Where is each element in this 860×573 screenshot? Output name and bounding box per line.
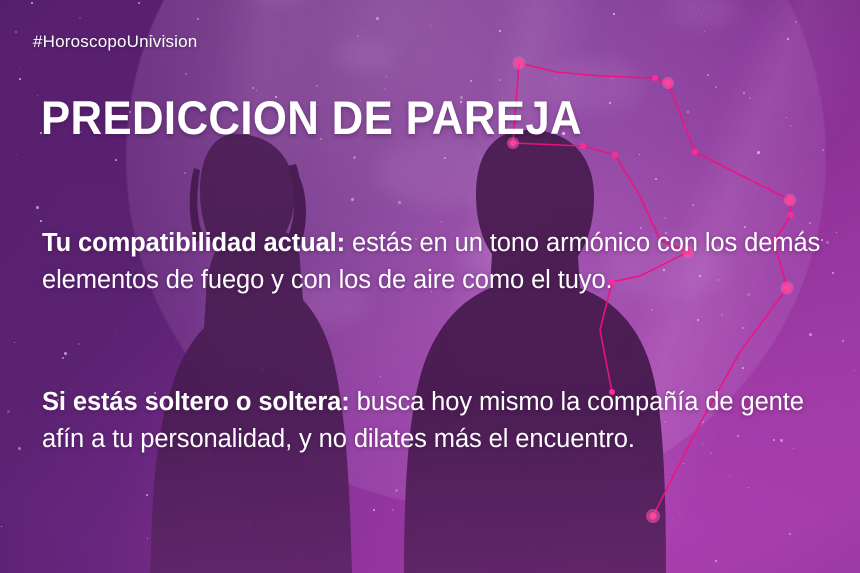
card-content: #HoroscopoUnivision PREDICCION DE PAREJA… [0,0,860,573]
paragraph-compatibility: Tu compatibilidad actual: estás en un to… [42,225,832,299]
paragraph-1-lead: Tu compatibilidad actual: [42,229,345,257]
page-title: PREDICCION DE PAREJA [41,90,582,145]
horoscope-card: #HoroscopoUnivision PREDICCION DE PAREJA… [0,0,860,573]
paragraph-single: Si estás soltero o soltera: busca hoy mi… [42,384,832,458]
paragraph-2-lead: Si estás soltero o soltera: [42,388,350,416]
hashtag-label: #HoroscopoUnivision [33,32,197,52]
